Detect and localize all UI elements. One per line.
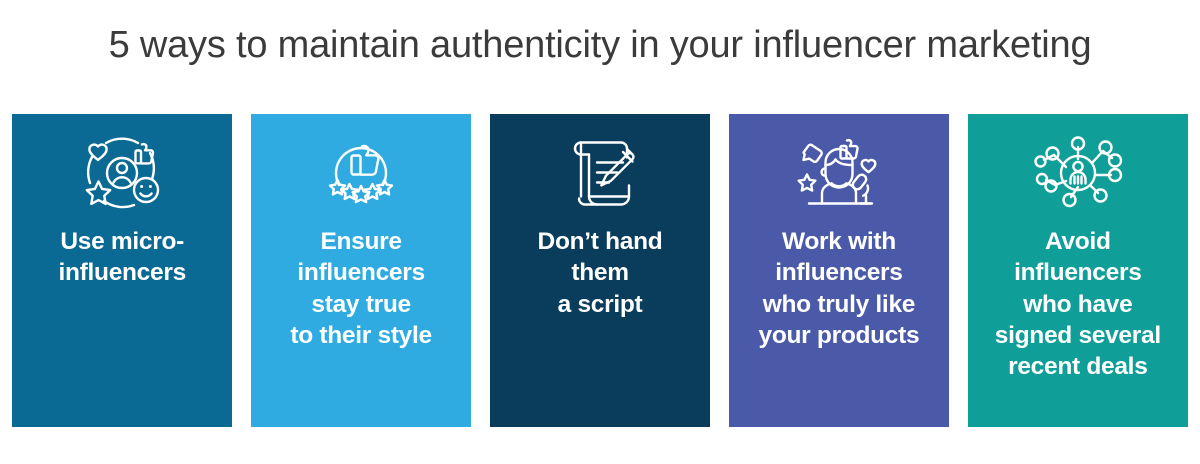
- infographic-root: 5 ways to maintain authenticity in your …: [0, 0, 1200, 464]
- card-row: Use micro- influencers En: [12, 114, 1188, 427]
- card-label: Ensure influencers stay true to their st…: [251, 226, 471, 351]
- card-dont-hand-them-a-script[interactable]: Don’t hand them a script: [490, 114, 710, 427]
- social-engagement-circle-icon: [12, 114, 232, 226]
- page-title: 5 ways to maintain authenticity in your …: [0, 24, 1200, 67]
- card-work-with-influencers[interactable]: Work with influencers who truly like you…: [729, 114, 949, 427]
- card-label: Avoid influencers who have signed severa…: [968, 226, 1188, 383]
- card-use-micro-influencers[interactable]: Use micro- influencers: [12, 114, 232, 427]
- thumbs-up-five-stars-icon: [251, 114, 471, 226]
- card-ensure-influencers-stay-true[interactable]: Ensure influencers stay true to their st…: [251, 114, 471, 427]
- card-label: Work with influencers who truly like you…: [729, 226, 949, 351]
- scroll-pencil-script-icon: [490, 114, 710, 226]
- card-label: Use micro- influencers: [12, 226, 232, 289]
- network-hub-person-icon: [968, 114, 1188, 226]
- card-avoid-influencers-signed-deals[interactable]: Avoid influencers who have signed severa…: [968, 114, 1188, 427]
- card-label: Don’t hand them a script: [490, 226, 710, 320]
- influencer-person-microphone-icon: [729, 114, 949, 226]
